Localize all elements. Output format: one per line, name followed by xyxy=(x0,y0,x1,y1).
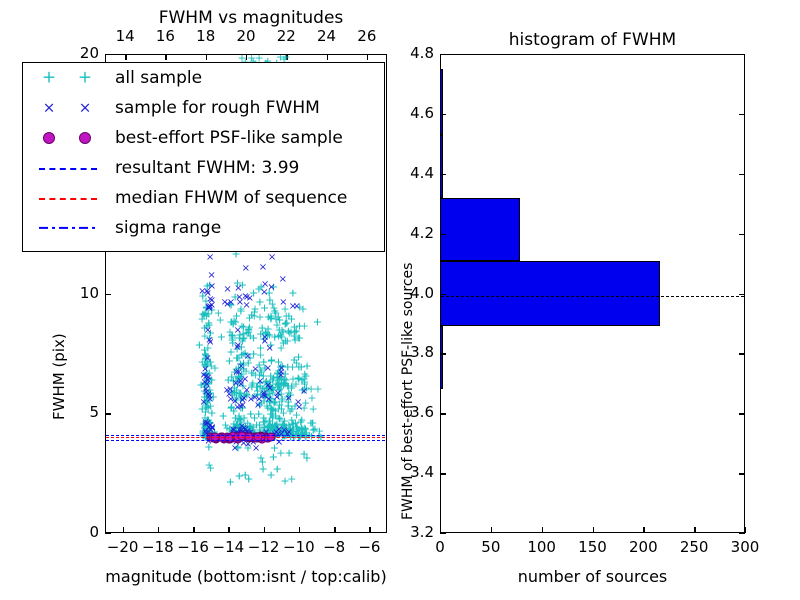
scatter-point-rough: × xyxy=(208,423,216,433)
scatter-point-all: + xyxy=(265,396,274,407)
scatter-point-all: + xyxy=(273,381,282,392)
scatter-point-all: + xyxy=(284,397,293,408)
scatter-point-all: + xyxy=(285,424,294,435)
scatter-point-all: + xyxy=(230,386,239,397)
scatter-point-all: + xyxy=(277,373,286,384)
scatter-point-all: + xyxy=(204,308,213,319)
scatter-point-all: + xyxy=(230,383,239,394)
scatter-point-rough: × xyxy=(221,298,229,308)
scatter-point-all: + xyxy=(236,394,245,405)
scatter-point-all: + xyxy=(232,384,241,395)
scatter-point-all: + xyxy=(245,313,254,324)
scatter-point-all: + xyxy=(271,405,280,416)
scatter-point-all: + xyxy=(297,361,306,372)
scatter-point-all: + xyxy=(198,404,207,415)
right-x-tick xyxy=(643,527,644,533)
scatter-point-all: + xyxy=(247,309,256,320)
left-y-tick-label: 20 xyxy=(63,44,99,62)
scatter-point-rough: × xyxy=(204,376,212,386)
scatter-point-all: + xyxy=(300,423,309,434)
scatter-point-all: + xyxy=(204,415,213,426)
scatter-point-all: + xyxy=(274,330,283,341)
scatter-point-all: + xyxy=(234,372,243,383)
scatter-point-all: + xyxy=(284,387,293,398)
scatter-point-all: + xyxy=(198,290,207,301)
scatter-point-all: + xyxy=(272,320,281,331)
scatter-point-all: + xyxy=(275,413,284,424)
scatter-point-all: + xyxy=(228,330,237,341)
scatter-point-all: + xyxy=(280,475,289,486)
scatter-point-all: + xyxy=(266,370,275,381)
scatter-point-all: + xyxy=(205,368,214,379)
left-bottom-tick-label: −12 xyxy=(247,538,281,556)
scatter-point-all: + xyxy=(232,310,241,321)
scatter-point-all: + xyxy=(206,418,215,429)
legend-entry[interactable]: best-effort PSF-like sample xyxy=(23,123,384,153)
scatter-point-rough: × xyxy=(267,283,275,293)
legend-entry[interactable]: ××sample for rough FWHM xyxy=(23,93,384,123)
scatter-point-all: + xyxy=(206,463,215,474)
scatter-point-all: + xyxy=(298,303,307,314)
histogram-bar xyxy=(441,69,443,135)
scatter-point-all: + xyxy=(244,474,253,485)
scatter-point-all: + xyxy=(259,412,268,423)
scatter-point-all: + xyxy=(307,417,316,428)
scatter-point-all: + xyxy=(239,333,248,344)
scatter-point-all: + xyxy=(203,393,212,404)
scatter-point-all: + xyxy=(249,287,258,298)
scatter-point-all: + xyxy=(275,324,284,335)
scatter-point-all: + xyxy=(244,474,253,485)
scatter-point-all: + xyxy=(204,415,213,426)
scatter-point-rough: × xyxy=(227,298,235,308)
scatter-point-all: + xyxy=(206,357,215,368)
histogram-bar xyxy=(441,135,443,198)
scatter-point-all: + xyxy=(250,391,259,402)
scatter-point-all: + xyxy=(289,423,298,434)
scatter-point-all: + xyxy=(203,415,212,426)
scatter-point-all: + xyxy=(231,395,240,406)
scatter-point-all: + xyxy=(269,398,278,409)
scatter-point-all: + xyxy=(229,406,238,417)
scatter-point-all: + xyxy=(260,416,269,427)
scatter-point-all: + xyxy=(227,317,236,328)
scatter-point-rough: × xyxy=(261,333,269,343)
right-y-tick-label: 3.2 xyxy=(392,523,434,541)
scatter-point-all: + xyxy=(280,373,289,384)
scatter-point-all: + xyxy=(271,314,280,325)
scatter-point-all: + xyxy=(265,380,274,391)
legend-box: ++all sample××sample for rough FWHMbest-… xyxy=(22,62,385,252)
scatter-point-all: + xyxy=(200,392,209,403)
scatter-point-all: + xyxy=(235,332,244,343)
scatter-point-all: + xyxy=(219,411,228,422)
scatter-point-all: + xyxy=(202,402,211,413)
scatter-point-all: + xyxy=(257,398,266,409)
legend-entry[interactable]: ++all sample xyxy=(23,63,384,93)
scatter-point-all: + xyxy=(230,367,239,378)
scatter-point-all: + xyxy=(245,313,254,324)
scatter-point-all: + xyxy=(268,383,277,394)
scatter-point-rough: × xyxy=(243,386,251,396)
scatter-point-rough: × xyxy=(223,285,231,295)
scatter-point-all: + xyxy=(229,419,238,430)
scatter-point-all: + xyxy=(276,369,285,380)
scatter-point-all: + xyxy=(256,381,265,392)
scatter-point-all: + xyxy=(284,310,293,321)
scatter-point-all: + xyxy=(295,301,304,312)
scatter-point-all: + xyxy=(244,323,253,334)
scatter-point-all: + xyxy=(292,325,301,336)
scatter-point-all: + xyxy=(238,329,247,340)
scatter-point-all: + xyxy=(260,387,269,398)
scatter-point-all: + xyxy=(277,377,286,388)
scatter-point-all: + xyxy=(202,369,211,380)
scatter-point-all: + xyxy=(204,379,213,390)
legend-plus-icon: + xyxy=(42,70,56,87)
scatter-point-all: + xyxy=(204,317,213,328)
scatter-point-all: + xyxy=(284,447,293,458)
scatter-point-all: + xyxy=(267,422,276,433)
scatter-point-all: + xyxy=(285,424,294,435)
scatter-point-all: + xyxy=(247,381,256,392)
scatter-point-all: + xyxy=(274,312,283,323)
scatter-point-all: + xyxy=(205,279,214,290)
scatter-point-all: + xyxy=(236,303,245,314)
scatter-point-rough: × xyxy=(260,288,268,298)
scatter-point-all: + xyxy=(294,362,303,373)
scatter-point-all: + xyxy=(282,375,291,386)
scatter-point-all: + xyxy=(313,317,322,328)
scatter-point-all: + xyxy=(277,427,286,438)
scatter-point-all: + xyxy=(272,371,281,382)
scatter-point-all: + xyxy=(219,411,228,422)
histogram-bar xyxy=(441,326,443,389)
scatter-point-all: + xyxy=(287,380,296,391)
scatter-point-all: + xyxy=(265,294,274,305)
scatter-point-all: + xyxy=(282,317,291,328)
scatter-point-all: + xyxy=(204,415,213,426)
histogram-bar xyxy=(441,261,660,327)
scatter-point-rough: × xyxy=(284,394,292,404)
scatter-point-all: + xyxy=(271,405,280,416)
scatter-point-all: + xyxy=(268,411,277,422)
scatter-point-all: + xyxy=(249,332,258,343)
scatter-point-all: + xyxy=(292,325,301,336)
scatter-point-all: + xyxy=(295,321,304,332)
scatter-point-all: + xyxy=(281,319,290,330)
right-y-tick-label: 4.6 xyxy=(392,104,434,122)
scatter-point-rough: × xyxy=(243,293,251,303)
scatter-point-all: + xyxy=(205,385,214,396)
scatter-point-all: + xyxy=(265,395,274,406)
scatter-point-all: + xyxy=(234,421,243,432)
scatter-point-all: + xyxy=(259,391,268,402)
scatter-point-all: + xyxy=(274,379,283,390)
scatter-point-all: + xyxy=(237,341,246,352)
scatter-point-all: + xyxy=(232,420,241,431)
left-bottom-tick-label: −10 xyxy=(282,538,316,556)
scatter-point-all: + xyxy=(250,304,259,315)
scatter-point-all: + xyxy=(276,369,285,380)
scatter-point-all: + xyxy=(274,413,283,424)
scatter-point-all: + xyxy=(234,371,243,382)
right-x-tick xyxy=(542,527,543,533)
scatter-point-all: + xyxy=(236,414,245,425)
scatter-point-all: + xyxy=(255,297,264,308)
scatter-point-rough: × xyxy=(294,398,302,408)
legend-cross-icon: × xyxy=(79,101,92,116)
scatter-point-all: + xyxy=(235,373,244,384)
scatter-point-all: + xyxy=(239,363,248,374)
scatter-point-all: + xyxy=(227,385,236,396)
legend-entry[interactable]: resultant FWHM: 3.99 xyxy=(23,153,384,183)
scatter-point-all: + xyxy=(201,421,210,432)
scatter-point-all: + xyxy=(262,384,271,395)
right-y-tick-mirror xyxy=(739,234,745,235)
scatter-point-all: + xyxy=(306,383,315,394)
scatter-point-all: + xyxy=(285,422,294,433)
scatter-point-all: + xyxy=(263,379,272,390)
scatter-point-all: + xyxy=(268,411,277,422)
scatter-point-all: + xyxy=(265,329,274,340)
right-plot-title: histogram of FWHM xyxy=(440,30,745,50)
scatter-point-rough: × xyxy=(205,392,213,402)
scatter-point-all: + xyxy=(207,304,216,315)
scatter-point-all: + xyxy=(292,422,301,433)
scatter-point-all: + xyxy=(277,374,286,385)
scatter-point-all: + xyxy=(233,376,242,387)
scatter-point-all: + xyxy=(239,363,248,374)
scatter-point-rough: × xyxy=(206,395,214,405)
left-top-tick-label: 14 xyxy=(112,27,138,45)
scatter-point-all: + xyxy=(229,406,238,417)
scatter-point-all: + xyxy=(230,291,239,302)
scatter-point-all: + xyxy=(277,427,286,438)
scatter-point-all: + xyxy=(287,427,296,438)
scatter-point-all: + xyxy=(265,416,274,427)
scatter-point-all: + xyxy=(200,413,209,424)
scatter-point-all: + xyxy=(270,420,279,431)
scatter-point-all: + xyxy=(241,421,250,432)
scatter-point-all: + xyxy=(257,366,266,377)
scatter-point-all: + xyxy=(308,417,317,428)
left-y-tick xyxy=(105,533,111,534)
scatter-point-all: + xyxy=(253,385,262,396)
scatter-point-rough: × xyxy=(255,395,263,405)
scatter-point-all: + xyxy=(262,384,271,395)
scatter-point-rough: × xyxy=(254,401,262,411)
scatter-point-rough: × xyxy=(236,298,244,308)
right-x-tick-label: 150 xyxy=(573,538,613,556)
scatter-point-all: + xyxy=(266,422,275,433)
scatter-point-all: + xyxy=(300,378,309,389)
scatter-point-all: + xyxy=(202,374,211,385)
scatter-point-all: + xyxy=(261,390,270,401)
scatter-point-all: + xyxy=(233,419,242,430)
scatter-point-rough: × xyxy=(237,380,245,390)
scatter-point-all: + xyxy=(266,420,275,431)
scatter-point-all: + xyxy=(260,363,269,374)
scatter-point-all: + xyxy=(202,320,211,331)
scatter-point-all: + xyxy=(273,463,282,474)
scatter-point-all: + xyxy=(238,333,247,344)
scatter-point-all: + xyxy=(292,410,301,421)
scatter-point-all: + xyxy=(233,442,242,453)
scatter-point-all: + xyxy=(198,404,207,415)
scatter-point-all: + xyxy=(239,321,248,332)
scatter-point-all: + xyxy=(246,330,255,341)
scatter-point-all: + xyxy=(273,463,282,474)
scatter-point-rough: × xyxy=(208,296,216,306)
scatter-point-all: + xyxy=(294,333,303,344)
scatter-point-all: + xyxy=(280,423,289,434)
scatter-point-all: + xyxy=(271,421,280,432)
scatter-point-all: + xyxy=(206,328,215,339)
scatter-point-all: + xyxy=(279,418,288,429)
scatter-point-all: + xyxy=(270,332,279,343)
scatter-point-all: + xyxy=(276,342,285,353)
scatter-point-all: + xyxy=(267,382,276,393)
right-y-tick xyxy=(440,294,446,295)
scatter-point-all: + xyxy=(237,320,246,331)
scatter-point-all: + xyxy=(290,401,299,412)
scatter-point-all: + xyxy=(201,353,210,364)
scatter-point-all: + xyxy=(258,464,267,475)
scatter-point-all: + xyxy=(201,407,210,418)
legend-entry[interactable]: sigma range xyxy=(23,213,384,243)
scatter-point-all: + xyxy=(297,415,306,426)
scatter-point-all: + xyxy=(263,324,272,335)
scatter-point-all: + xyxy=(240,391,249,402)
scatter-point-all: + xyxy=(201,386,210,397)
scatter-point-all: + xyxy=(274,312,283,323)
scatter-point-all: + xyxy=(235,414,244,425)
scatter-point-all: + xyxy=(269,452,278,463)
scatter-point-rough: × xyxy=(237,362,245,372)
scatter-point-rough: × xyxy=(225,390,233,400)
scatter-point-all: + xyxy=(300,384,309,395)
scatter-point-all: + xyxy=(237,393,246,404)
scatter-point-all: + xyxy=(244,324,253,335)
scatter-point-all: + xyxy=(270,421,279,432)
scatter-point-all: + xyxy=(200,386,209,397)
scatter-point-all: + xyxy=(242,365,251,376)
scatter-point-all: + xyxy=(234,421,243,432)
scatter-point-all: + xyxy=(249,348,258,359)
scatter-point-all: + xyxy=(262,375,271,386)
scatter-point-all: + xyxy=(236,388,245,399)
scatter-point-all: + xyxy=(265,294,274,305)
scatter-point-all: + xyxy=(295,333,304,344)
scatter-point-all: + xyxy=(255,419,264,430)
scatter-point-all: + xyxy=(264,312,273,323)
scatter-point-all: + xyxy=(301,370,310,381)
scatter-point-rough: × xyxy=(199,398,207,408)
scatter-point-all: + xyxy=(203,281,212,292)
scatter-point-all: + xyxy=(198,290,207,301)
scatter-point-all: + xyxy=(300,448,309,459)
scatter-point-all: + xyxy=(203,402,212,413)
scatter-point-all: + xyxy=(201,296,210,307)
left-top-tick-label: 18 xyxy=(193,27,219,45)
scatter-point-all: + xyxy=(240,347,249,358)
scatter-point-all: + xyxy=(204,416,213,427)
scatter-point-all: + xyxy=(283,380,292,391)
scatter-point-all: + xyxy=(236,414,245,425)
scatter-point-all: + xyxy=(203,395,212,406)
scatter-point-all: + xyxy=(238,280,247,291)
scatter-point-all: + xyxy=(268,298,277,309)
scatter-point-all: + xyxy=(270,421,279,432)
left-bottom-tick-label: −20 xyxy=(106,538,140,556)
scatter-point-all: + xyxy=(292,358,301,369)
scatter-point-rough: × xyxy=(241,375,249,385)
scatter-point-all: + xyxy=(288,418,297,429)
scatter-point-all: + xyxy=(261,327,270,338)
scatter-point-all: + xyxy=(252,381,261,392)
scatter-point-all: + xyxy=(294,374,303,385)
scatter-point-all: + xyxy=(203,359,212,370)
scatter-point-all: + xyxy=(275,315,284,326)
scatter-point-all: + xyxy=(266,422,275,433)
scatter-point-all: + xyxy=(202,303,211,314)
scatter-point-all: + xyxy=(268,405,277,416)
scatter-point-all: + xyxy=(284,420,293,431)
scatter-point-all: + xyxy=(225,355,234,366)
scatter-point-all: + xyxy=(202,350,211,361)
scatter-point-all: + xyxy=(197,313,206,324)
scatter-point-all: + xyxy=(245,420,254,431)
legend-entry[interactable]: median FHWM of sequence xyxy=(23,183,384,213)
right-x-tick-label: 250 xyxy=(674,538,714,556)
scatter-point-all: + xyxy=(197,380,206,391)
scatter-point-all: + xyxy=(271,314,280,325)
scatter-point-all: + xyxy=(238,381,247,392)
scatter-point-all: + xyxy=(292,422,301,433)
scatter-point-rough: × xyxy=(256,377,264,387)
scatter-point-all: + xyxy=(269,385,278,396)
scatter-point-rough: × xyxy=(277,364,285,374)
scatter-point-all: + xyxy=(265,388,274,399)
scatter-point-all: + xyxy=(250,304,259,315)
scatter-point-all: + xyxy=(207,304,216,315)
scatter-point-all: + xyxy=(242,328,251,339)
scatter-point-all: + xyxy=(255,400,264,411)
scatter-point-all: + xyxy=(276,427,285,438)
scatter-point-all: + xyxy=(284,310,293,321)
scatter-point-all: + xyxy=(267,422,276,433)
scatter-point-all: + xyxy=(301,370,310,381)
scatter-point-all: + xyxy=(266,422,275,433)
right-x-tick xyxy=(694,527,695,533)
scatter-point-all: + xyxy=(263,420,272,431)
scatter-point-all: + xyxy=(273,375,282,386)
scatter-point-all: + xyxy=(242,389,251,400)
legend-marker-plus-icon: ++ xyxy=(23,63,115,93)
scatter-point-all: + xyxy=(280,373,289,384)
scatter-point-rough: × xyxy=(279,298,287,308)
scatter-point-rough: × xyxy=(261,392,269,402)
scatter-point-all: + xyxy=(287,382,296,393)
scatter-point-rough: × xyxy=(260,391,268,401)
scatter-point-all: + xyxy=(225,299,234,310)
scatter-point-all: + xyxy=(204,421,213,432)
scatter-point-all: + xyxy=(258,456,267,467)
scatter-point-all: + xyxy=(255,378,264,389)
scatter-point-all: + xyxy=(234,353,243,364)
scatter-point-all: + xyxy=(256,453,265,464)
